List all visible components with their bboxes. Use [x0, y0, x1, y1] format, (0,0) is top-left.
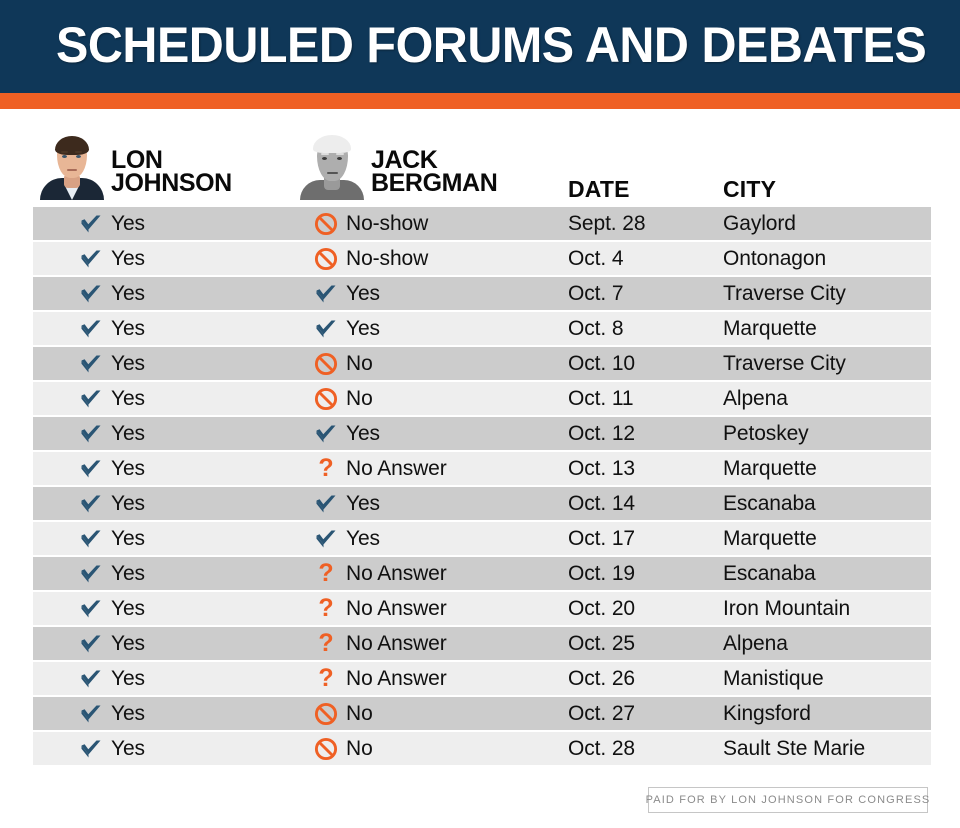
- check-icon: [313, 284, 339, 304]
- date-text: Oct. 7: [568, 282, 623, 306]
- cell-date: Oct. 27: [568, 697, 635, 730]
- no-entry-icon: [313, 387, 339, 411]
- date-text: Sept. 28: [568, 212, 645, 236]
- table-row: YesNoOct. 10Traverse City: [33, 347, 931, 380]
- check-icon: [78, 739, 104, 759]
- check-icon: [78, 529, 104, 549]
- city-text: Traverse City: [723, 352, 846, 376]
- column-header-city: CITY: [723, 176, 776, 203]
- check-icon: [78, 564, 104, 584]
- cell-date: Oct. 13: [568, 452, 635, 485]
- table-row: Yes?No AnswerOct. 20Iron Mountain: [33, 592, 931, 625]
- cell-bergman-status: Yes: [313, 522, 380, 555]
- table-row: YesYesOct. 7Traverse City: [33, 277, 931, 310]
- bergman-status-label: Yes: [346, 282, 380, 306]
- cell-bergman-status: No-show: [313, 207, 428, 240]
- city-text: Kingsford: [723, 702, 811, 726]
- no-entry-icon: [313, 352, 339, 376]
- cell-city: Traverse City: [723, 277, 846, 310]
- bergman-status-label: No Answer: [346, 597, 447, 621]
- bergman-status-label: Yes: [346, 317, 380, 341]
- cell-bergman-status: No: [313, 697, 373, 730]
- check-icon: [78, 354, 104, 374]
- city-text: Iron Mountain: [723, 597, 850, 621]
- cell-date: Oct. 7: [568, 277, 623, 310]
- disclaimer-box: PAID FOR BY LON JOHNSON FOR CONGRESS: [648, 787, 928, 813]
- check-icon: [78, 389, 104, 409]
- table-row: YesNo-showSept. 28Gaylord: [33, 207, 931, 240]
- date-text: Oct. 17: [568, 527, 635, 551]
- date-text: Oct. 13: [568, 457, 635, 481]
- check-icon: [78, 214, 104, 234]
- johnson-status-label: Yes: [111, 667, 145, 691]
- cell-johnson-status: Yes: [78, 592, 145, 625]
- cell-city: Alpena: [723, 382, 788, 415]
- table-row: YesNoOct. 28Sault Ste Marie: [33, 732, 931, 765]
- check-icon: [313, 424, 339, 444]
- bergman-status-label: No Answer: [346, 562, 447, 586]
- cell-date: Oct. 12: [568, 417, 635, 450]
- cell-bergman-status: ?No Answer: [313, 592, 447, 625]
- cell-date: Oct. 8: [568, 312, 623, 345]
- lon-johnson-photo: [36, 128, 108, 200]
- cell-johnson-status: Yes: [78, 277, 145, 310]
- date-text: Oct. 27: [568, 702, 635, 726]
- cell-city: Marquette: [723, 522, 817, 555]
- city-text: Manistique: [723, 667, 824, 691]
- bergman-status-label: No: [346, 702, 373, 726]
- cell-johnson-status: Yes: [78, 732, 145, 765]
- date-text: Oct. 12: [568, 422, 635, 446]
- table-row: YesNo-showOct. 4Ontonagon: [33, 242, 931, 275]
- check-icon: [313, 319, 339, 339]
- table-row: Yes?No AnswerOct. 13Marquette: [33, 452, 931, 485]
- city-text: Ontonagon: [723, 247, 826, 271]
- check-icon: [78, 599, 104, 619]
- cell-johnson-status: Yes: [78, 417, 145, 450]
- candidate-name-johnson: LON JOHNSON: [111, 149, 232, 201]
- city-text: Escanaba: [723, 492, 816, 516]
- cell-bergman-status: Yes: [313, 312, 380, 345]
- cell-johnson-status: Yes: [78, 662, 145, 695]
- check-icon: [78, 494, 104, 514]
- bergman-status-label: No: [346, 387, 373, 411]
- cell-johnson-status: Yes: [78, 347, 145, 380]
- cell-bergman-status: No: [313, 732, 373, 765]
- check-icon: [313, 529, 339, 549]
- question-mark-icon: ?: [313, 666, 339, 691]
- bergman-status-label: Yes: [346, 527, 380, 551]
- column-header-date: DATE: [568, 176, 630, 203]
- cell-bergman-status: ?No Answer: [313, 557, 447, 590]
- check-icon: [78, 704, 104, 724]
- city-text: Marquette: [723, 527, 817, 551]
- check-icon: [78, 249, 104, 269]
- cell-date: Sept. 28: [568, 207, 645, 240]
- table-row: YesYesOct. 12Petoskey: [33, 417, 931, 450]
- cell-bergman-status: ?No Answer: [313, 627, 447, 660]
- cell-city: Marquette: [723, 312, 817, 345]
- city-text: Alpena: [723, 387, 788, 411]
- no-entry-icon: [313, 702, 339, 726]
- check-icon: [78, 424, 104, 444]
- table-row: YesYesOct. 8Marquette: [33, 312, 931, 345]
- no-entry-icon: [313, 212, 339, 236]
- date-text: Oct. 28: [568, 737, 635, 761]
- cell-date: Oct. 28: [568, 732, 635, 765]
- city-text: Gaylord: [723, 212, 796, 236]
- bergman-status-label: No Answer: [346, 457, 447, 481]
- bergman-status-label: No Answer: [346, 632, 447, 656]
- date-text: Oct. 25: [568, 632, 635, 656]
- candidate-name-bergman: JACK BERGMAN: [371, 149, 497, 201]
- johnson-status-label: Yes: [111, 492, 145, 516]
- city-text: Petoskey: [723, 422, 809, 446]
- cell-city: Traverse City: [723, 347, 846, 380]
- cell-city: Gaylord: [723, 207, 796, 240]
- johnson-status-label: Yes: [111, 737, 145, 761]
- date-text: Oct. 10: [568, 352, 635, 376]
- cell-city: Kingsford: [723, 697, 811, 730]
- date-text: Oct. 19: [568, 562, 635, 586]
- check-icon: [313, 494, 339, 514]
- johnson-status-label: Yes: [111, 212, 145, 236]
- cell-johnson-status: Yes: [78, 207, 145, 240]
- date-text: Oct. 4: [568, 247, 623, 271]
- candidate-header-bergman: JACK BERGMAN: [296, 128, 497, 200]
- cell-johnson-status: Yes: [78, 627, 145, 660]
- city-text: Escanaba: [723, 562, 816, 586]
- cell-city: Iron Mountain: [723, 592, 850, 625]
- cell-johnson-status: Yes: [78, 697, 145, 730]
- johnson-status-label: Yes: [111, 632, 145, 656]
- cell-city: Petoskey: [723, 417, 809, 450]
- cell-date: Oct. 20: [568, 592, 635, 625]
- check-icon: [78, 669, 104, 689]
- city-text: Sault Ste Marie: [723, 737, 865, 761]
- cell-bergman-status: ?No Answer: [313, 452, 447, 485]
- cell-bergman-status: Yes: [313, 417, 380, 450]
- cell-johnson-status: Yes: [78, 242, 145, 275]
- cell-city: Sault Ste Marie: [723, 732, 865, 765]
- no-entry-icon: [313, 247, 339, 271]
- candidate-header-johnson: LON JOHNSON: [36, 128, 232, 200]
- check-icon: [78, 284, 104, 304]
- table-row: YesNoOct. 27Kingsford: [33, 697, 931, 730]
- page-title: SCHEDULED FORUMS AND DEBATES: [56, 20, 926, 70]
- city-text: Alpena: [723, 632, 788, 656]
- cell-date: Oct. 19: [568, 557, 635, 590]
- table-row: YesYesOct. 14Escanaba: [33, 487, 931, 520]
- bergman-status-label: No-show: [346, 212, 428, 236]
- table-row: Yes?No AnswerOct. 25Alpena: [33, 627, 931, 660]
- bergman-status-label: Yes: [346, 492, 380, 516]
- cell-city: Ontonagon: [723, 242, 826, 275]
- no-entry-icon: [313, 737, 339, 761]
- orange-accent-stripe: [0, 93, 960, 109]
- cell-johnson-status: Yes: [78, 382, 145, 415]
- cell-bergman-status: ?No Answer: [313, 662, 447, 695]
- cell-date: Oct. 11: [568, 382, 633, 415]
- cell-date: Oct. 25: [568, 627, 635, 660]
- johnson-status-label: Yes: [111, 562, 145, 586]
- johnson-status-label: Yes: [111, 317, 145, 341]
- johnson-status-label: Yes: [111, 527, 145, 551]
- check-icon: [78, 459, 104, 479]
- cell-city: Escanaba: [723, 557, 816, 590]
- table-row: YesNoOct. 11Alpena: [33, 382, 931, 415]
- cell-date: Oct. 26: [568, 662, 635, 695]
- jack-bergman-photo: [296, 128, 368, 200]
- check-icon: [78, 634, 104, 654]
- question-mark-icon: ?: [313, 631, 339, 656]
- cell-date: Oct. 17: [568, 522, 635, 555]
- johnson-status-label: Yes: [111, 282, 145, 306]
- forums-table: YesNo-showSept. 28GaylordYesNo-showOct. …: [33, 207, 931, 767]
- table-row: YesYesOct. 17Marquette: [33, 522, 931, 555]
- bergman-status-label: No-show: [346, 247, 428, 271]
- cell-date: Oct. 4: [568, 242, 623, 275]
- johnson-status-label: Yes: [111, 247, 145, 271]
- date-text: Oct. 20: [568, 597, 635, 621]
- johnson-status-label: Yes: [111, 702, 145, 726]
- johnson-status-label: Yes: [111, 422, 145, 446]
- johnson-status-label: Yes: [111, 597, 145, 621]
- johnson-status-label: Yes: [111, 387, 145, 411]
- cell-date: Oct. 14: [568, 487, 635, 520]
- date-text: Oct. 8: [568, 317, 623, 341]
- johnson-status-label: Yes: [111, 352, 145, 376]
- question-mark-icon: ?: [313, 456, 339, 481]
- bergman-status-label: No: [346, 737, 373, 761]
- cell-johnson-status: Yes: [78, 452, 145, 485]
- cell-date: Oct. 10: [568, 347, 635, 380]
- cell-city: Alpena: [723, 627, 788, 660]
- cell-city: Manistique: [723, 662, 824, 695]
- candidate-last-name-bergman: BERGMAN: [371, 172, 497, 196]
- candidate-last-name-johnson: JOHNSON: [111, 172, 232, 196]
- question-mark-icon: ?: [313, 561, 339, 586]
- cell-city: Marquette: [723, 452, 817, 485]
- cell-johnson-status: Yes: [78, 522, 145, 555]
- bergman-status-label: Yes: [346, 422, 380, 446]
- cell-johnson-status: Yes: [78, 487, 145, 520]
- cell-bergman-status: No-show: [313, 242, 428, 275]
- date-text: Oct. 26: [568, 667, 635, 691]
- cell-bergman-status: Yes: [313, 487, 380, 520]
- city-text: Marquette: [723, 457, 817, 481]
- table-row: Yes?No AnswerOct. 26Manistique: [33, 662, 931, 695]
- check-icon: [78, 319, 104, 339]
- date-text: Oct. 14: [568, 492, 635, 516]
- bergman-status-label: No Answer: [346, 667, 447, 691]
- johnson-status-label: Yes: [111, 457, 145, 481]
- cell-johnson-status: Yes: [78, 557, 145, 590]
- question-mark-icon: ?: [313, 596, 339, 621]
- city-text: Traverse City: [723, 282, 846, 306]
- cell-johnson-status: Yes: [78, 312, 145, 345]
- date-text: Oct. 11: [568, 387, 633, 411]
- table-row: Yes?No AnswerOct. 19Escanaba: [33, 557, 931, 590]
- cell-bergman-status: Yes: [313, 277, 380, 310]
- disclaimer-text: PAID FOR BY LON JOHNSON FOR CONGRESS: [646, 794, 931, 806]
- city-text: Marquette: [723, 317, 817, 341]
- cell-bergman-status: No: [313, 382, 373, 415]
- cell-bergman-status: No: [313, 347, 373, 380]
- bergman-status-label: No: [346, 352, 373, 376]
- cell-city: Escanaba: [723, 487, 816, 520]
